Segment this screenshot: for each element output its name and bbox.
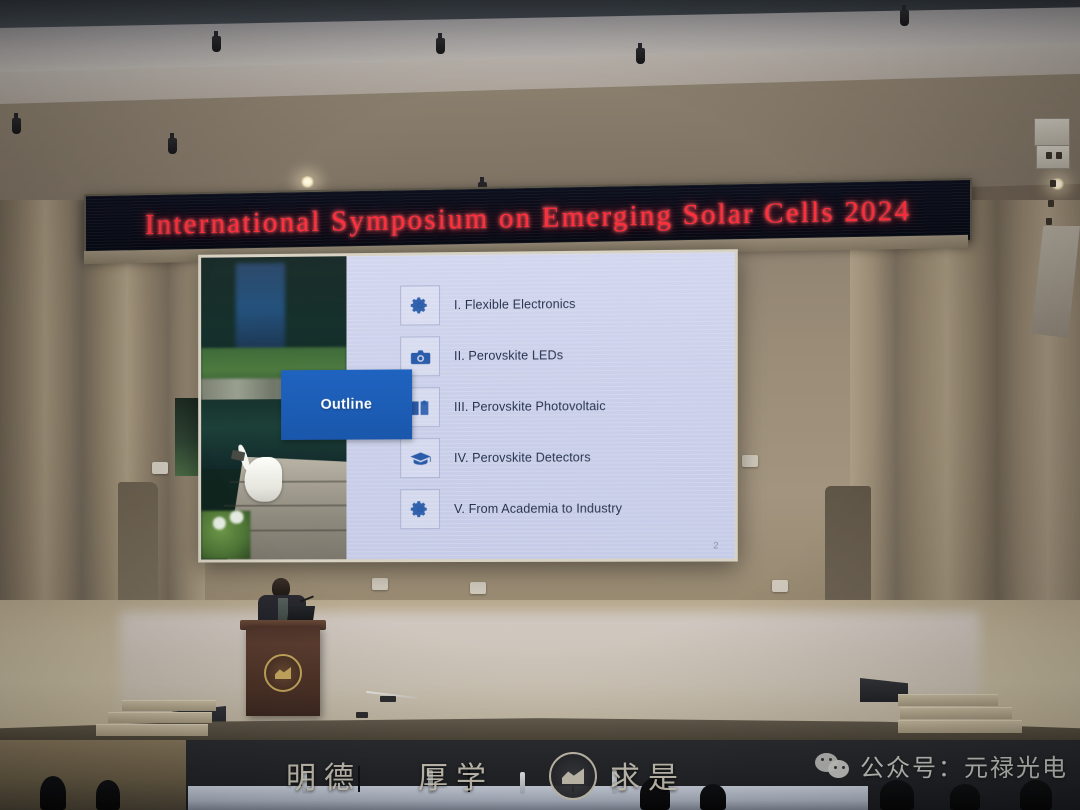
university-seal bbox=[549, 752, 597, 800]
audience-silhouette bbox=[950, 784, 980, 810]
auditorium-photo: International Symposium on Emerging Sola… bbox=[0, 0, 1080, 810]
watermark-text: 公众号：元禄光电 bbox=[860, 748, 1068, 783]
wall-motto: 明德 厚学 求是 bbox=[286, 752, 806, 798]
floor-box bbox=[356, 712, 368, 718]
outline-item-label: IV. Perovskite Detectors bbox=[454, 450, 591, 465]
ceiling-spotlight bbox=[436, 38, 445, 54]
podium bbox=[246, 626, 320, 716]
outline-item: V. From Academia to Industry bbox=[400, 482, 735, 534]
audience-silhouette bbox=[96, 780, 120, 810]
outline-item: IV. Perovskite Detectors bbox=[400, 431, 735, 484]
led-banner-text: International Symposium on Emerging Sola… bbox=[145, 194, 911, 241]
line-array-speaker bbox=[1026, 118, 1072, 243]
wall-outlet-plate bbox=[372, 578, 388, 590]
wall-outlet-plate bbox=[152, 462, 168, 474]
gear-icon bbox=[400, 489, 440, 529]
floor-box bbox=[380, 696, 396, 702]
ceiling-spotlight bbox=[212, 36, 221, 52]
ceiling-spotlight bbox=[12, 118, 21, 134]
audience-silhouette bbox=[40, 776, 66, 810]
stage-door-right bbox=[825, 486, 871, 602]
audience-silhouette bbox=[880, 780, 914, 810]
egret-body bbox=[245, 457, 283, 502]
motto-left: 明德 bbox=[286, 753, 362, 797]
podium-emblem bbox=[264, 654, 302, 692]
motto-middle: 厚学 bbox=[418, 753, 494, 797]
outline-tab-label: Outline bbox=[321, 397, 373, 413]
projection-screen-frame: Outline I. Flexible Electronics bbox=[198, 249, 738, 562]
wall-outlet-plate bbox=[742, 455, 758, 467]
stage-door-left bbox=[118, 482, 158, 600]
lower-wall-left-wood bbox=[0, 740, 186, 810]
slide-content: Outline I. Flexible Electronics bbox=[346, 252, 734, 559]
projection-screen: Outline I. Flexible Electronics bbox=[201, 252, 735, 559]
graduation-cap-icon bbox=[400, 438, 440, 478]
outline-item-label: III. Perovskite Photovoltaic bbox=[454, 399, 606, 414]
outline-item-label: I. Flexible Electronics bbox=[454, 297, 576, 312]
ceiling-spotlight bbox=[636, 48, 645, 64]
motto-right: 求是 bbox=[610, 753, 686, 797]
wechat-icon bbox=[815, 751, 851, 781]
gear-icon bbox=[400, 285, 440, 325]
outline-item-label: V. From Academia to Industry bbox=[454, 501, 622, 516]
outline-item: II. Perovskite LEDs bbox=[400, 328, 735, 382]
audience-silhouette bbox=[1020, 780, 1052, 810]
outline-tab: Outline bbox=[281, 369, 412, 439]
wall-outlet-plate bbox=[772, 580, 788, 592]
outline-item: III. Perovskite Photovoltaic bbox=[400, 380, 735, 433]
ceiling-spotlight bbox=[168, 138, 177, 154]
watermark: 公众号：元禄光电 bbox=[815, 748, 1068, 783]
ceiling-spotlight bbox=[900, 10, 909, 26]
ceiling-downlight bbox=[300, 176, 315, 188]
outline-item: I. Flexible Electronics bbox=[400, 277, 735, 331]
wall-outlet-plate bbox=[470, 582, 486, 594]
slide-page-number: 2 bbox=[713, 540, 718, 551]
outline-item-label: II. Perovskite LEDs bbox=[454, 348, 563, 363]
